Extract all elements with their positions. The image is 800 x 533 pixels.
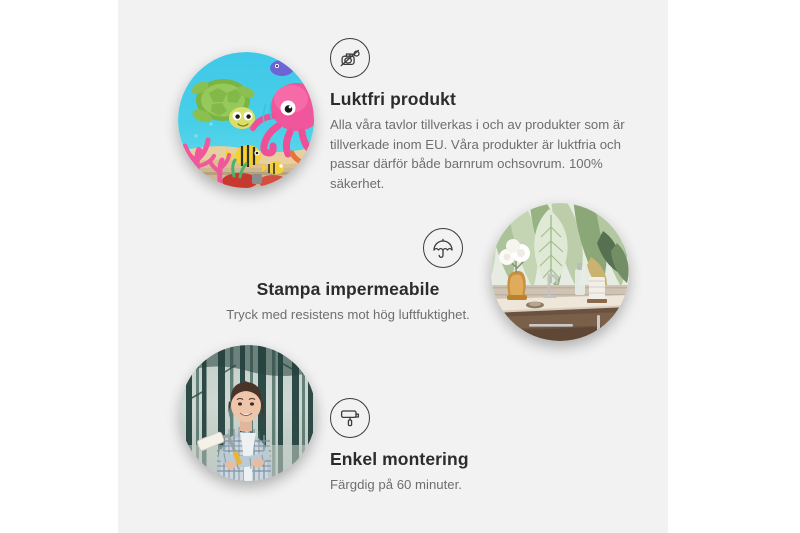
bathroom-vanity-tropical-wallpaper-circle bbox=[491, 203, 629, 341]
woman-with-paint-roller-forest-circle bbox=[180, 345, 316, 481]
feature-title: Luktfri produkt bbox=[330, 89, 630, 110]
feature-body: Tryck med resistens mot hög luftfuktighe… bbox=[208, 305, 488, 325]
feature-body-line: säkerhet. bbox=[330, 174, 630, 194]
feature-odour-free-info: Luktfri produkt Alla våra tavlor tillver… bbox=[330, 38, 630, 193]
no-perfume-spray-icon bbox=[330, 38, 370, 78]
feature-body-line: Färgdig på 60 minuter. bbox=[330, 475, 620, 495]
feature-body-line: tillverkade inom EU. Våra produkter är l… bbox=[330, 135, 630, 155]
paint-roller-icon bbox=[330, 398, 370, 438]
feature-waterproof-print-info: Stampa impermeabile Tryck med resistens … bbox=[208, 228, 488, 325]
promo-graphic: Luktfri produkt Alla våra tavlor tillver… bbox=[0, 0, 800, 533]
feature-body-line: Alla våra tavlor tillverkas i och av pro… bbox=[330, 115, 630, 135]
feature-easy-mounting-info: Enkel montering Färgdig på 60 minuter. bbox=[330, 398, 620, 495]
feature-body-line: Tryck med resistens mot hög luftfuktighe… bbox=[208, 305, 488, 325]
feature-body-line: passar därför både barnrum ochsovrum. 10… bbox=[330, 154, 630, 174]
umbrella-icon bbox=[423, 228, 463, 268]
feature-title: Stampa impermeabile bbox=[208, 279, 488, 300]
feature-title: Enkel montering bbox=[330, 449, 620, 470]
feature-body: Alla våra tavlor tillverkas i och av pro… bbox=[330, 115, 630, 193]
feature-body: Färgdig på 60 minuter. bbox=[330, 475, 620, 495]
underwater-cartoon-scene-circle bbox=[178, 52, 314, 188]
